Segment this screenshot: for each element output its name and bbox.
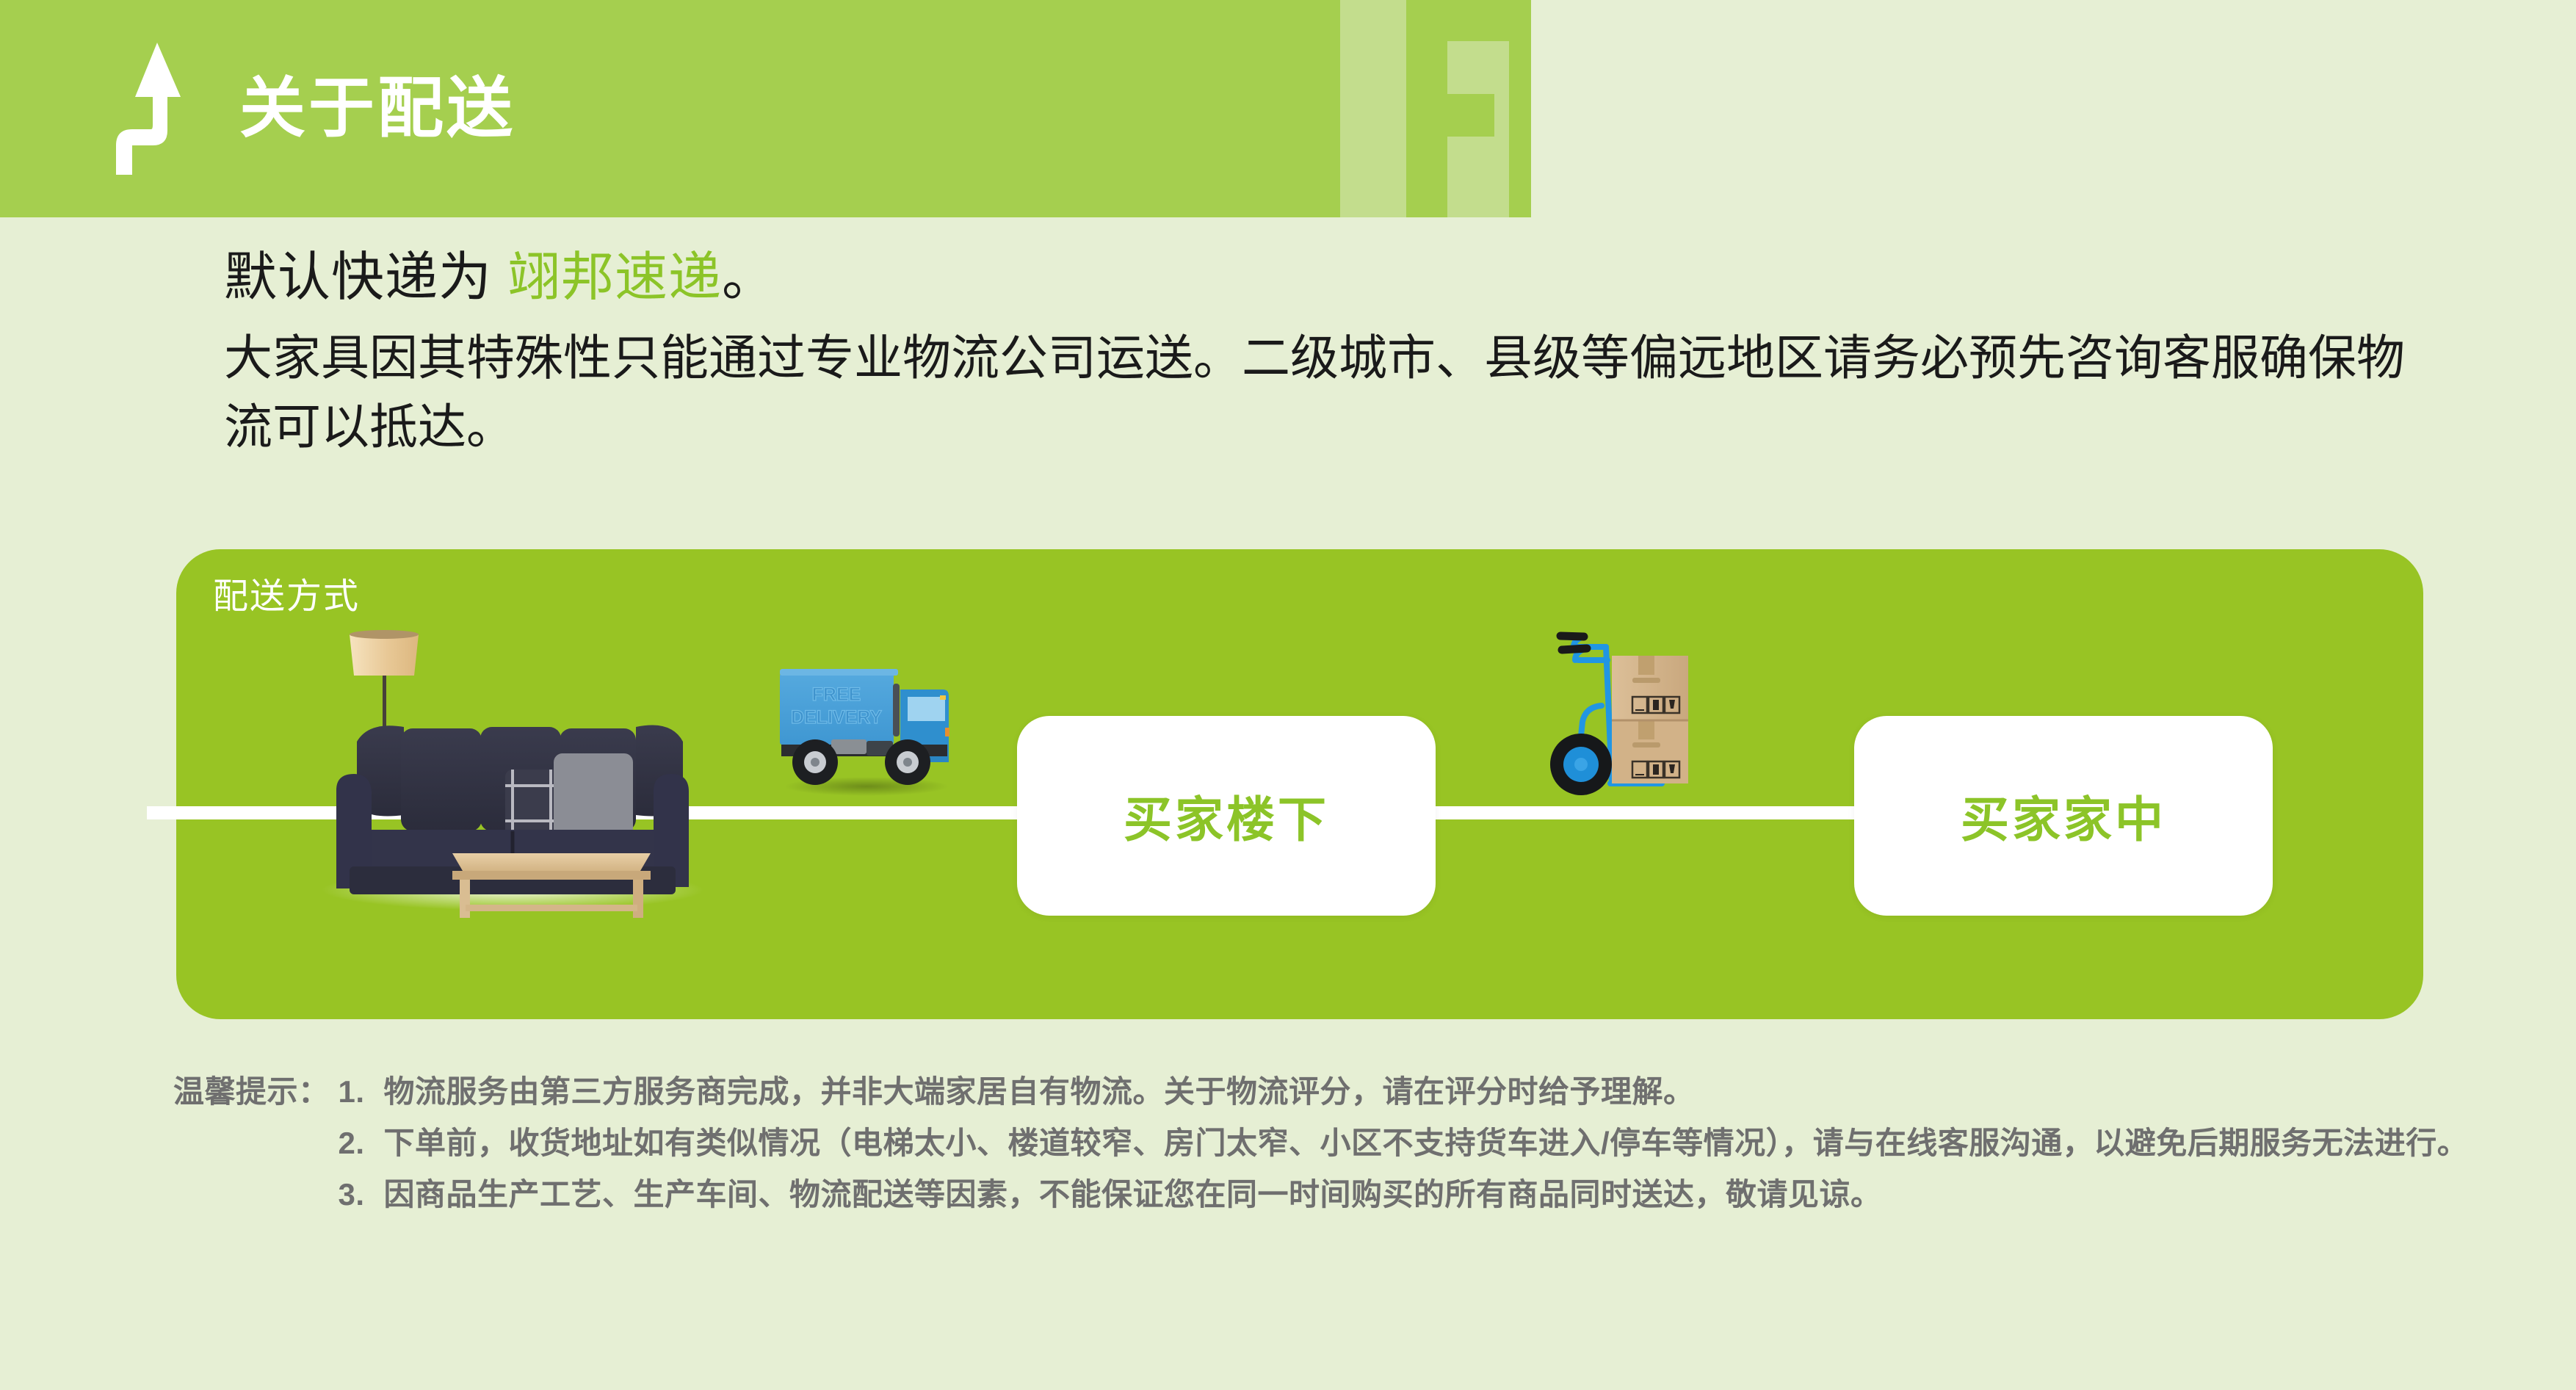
note-item: 1. 物流服务由第三方服务商完成，并非大端家居自有物流。关于物流评分，请在评分时… <box>339 1068 2567 1115</box>
notes-section: 温馨提示： 1. 物流服务由第三方服务商完成，并非大端家居自有物流。关于物流评分… <box>173 1068 2567 1222</box>
notes-list: 1. 物流服务由第三方服务商完成，并非大端家居自有物流。关于物流评分，请在评分时… <box>330 1068 2567 1222</box>
default-courier-suffix: 。 <box>722 248 775 307</box>
flow-step-card-2[interactable]: 买家家中 <box>1854 716 2273 916</box>
intro-paragraph: 大家具因其特殊性只能通过专业物流公司运送。二级城市、县级等偏远地区请务必预先咨询… <box>224 324 2442 461</box>
flow-step-card-1[interactable]: 买家楼下 <box>1017 716 1436 916</box>
notes-title: 温馨提示： <box>173 1068 330 1115</box>
intro-text-block: 默认快递为 翊邦速递。 大家具因其特殊性只能通过专业物流公司运送。二级城市、县级… <box>224 242 2471 462</box>
note-number: 2. <box>339 1120 384 1167</box>
note-text: 下单前，收货地址如有类似情况（电梯太小、楼道较窄、房门太窄、小区不支持货车进入/… <box>384 1120 2567 1167</box>
flow-step-label: 买家家中 <box>1961 781 2166 851</box>
page-title: 关于配送 <box>239 76 515 142</box>
default-courier-prefix: 默认快递为 <box>224 248 507 307</box>
note-text: 因商品生产工艺、生产车间、物流配送等因素，不能保证您在同一时间购买的所有商品同时… <box>384 1171 2567 1218</box>
flow-step-label: 买家楼下 <box>1124 781 1329 851</box>
note-text: 物流服务由第三方服务商完成，并非大端家居自有物流。关于物流评分，请在评分时给予理… <box>384 1068 2567 1115</box>
letter-f-decoration-icon <box>1311 0 1531 217</box>
hand-truck-boxes-illustration <box>1538 620 1707 819</box>
delivery-truck-illustration: FREE DELIVERY <box>764 642 969 811</box>
sofa-lamp-table-illustration <box>292 617 733 918</box>
note-item: 2. 下单前，收货地址如有类似情况（电梯太小、楼道较窄、房门太窄、小区不支持货车… <box>339 1120 2567 1167</box>
note-number: 1. <box>339 1068 384 1115</box>
note-number: 3. <box>339 1171 384 1218</box>
panel-label: 配送方式 <box>213 567 360 618</box>
truck-body-text-delivery: DELIVERY <box>791 707 882 728</box>
truck-body-text-free: FREE <box>812 684 861 705</box>
default-courier-line: 默认快递为 翊邦速递。 <box>224 242 2471 314</box>
courier-name: 翊邦速递 <box>507 248 722 307</box>
header-content: 关于配送 <box>110 0 515 217</box>
page-header: 关于配送 <box>0 0 1531 217</box>
up-turn-arrow-icon <box>110 43 206 175</box>
note-item: 3. 因商品生产工艺、生产车间、物流配送等因素，不能保证您在同一时间购买的所有商… <box>339 1171 2567 1218</box>
